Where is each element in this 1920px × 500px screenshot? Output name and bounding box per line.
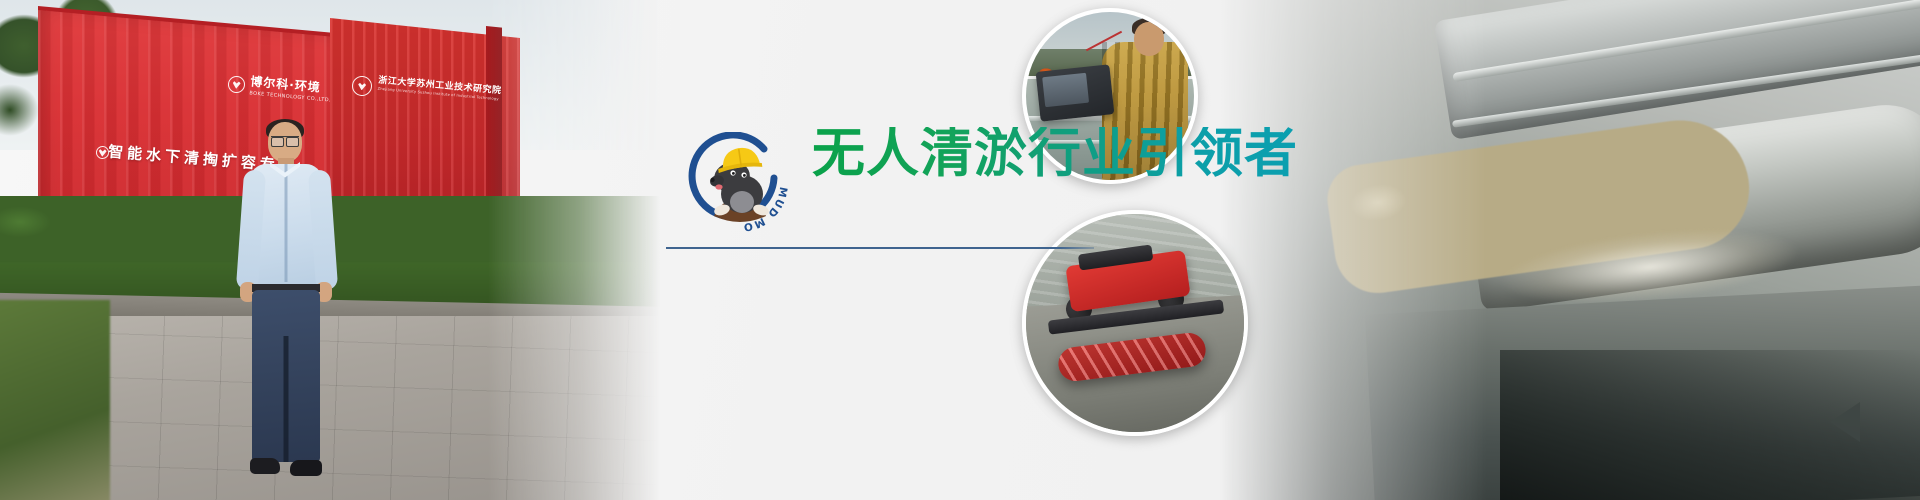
person-jeans — [252, 290, 320, 462]
glasses-icon — [271, 136, 299, 144]
person-left-shoe — [250, 458, 280, 474]
banner-headline: 无人清淤行业引领者 — [812, 127, 1298, 180]
mud-mole-logo-svg: MUD MOLE — [688, 132, 792, 236]
left-photo-man-in-front-of-red-container: 博尔科·环境 BOKE TECHNOLOGY CO.,LTD. 浙江大学苏州工业… — [0, 0, 660, 500]
person-standing — [228, 122, 348, 500]
logo-mole-pupil-right — [743, 174, 746, 177]
grass-verge — [0, 300, 110, 500]
person-right-shoe — [290, 460, 322, 476]
logo-mole-pupil-left — [732, 172, 735, 175]
logo-mole-nose — [710, 178, 714, 182]
hero-banner: 博尔科·环境 BOKE TECHNOLOGY CO.,LTD. 浙江大学苏州工业… — [0, 0, 1920, 500]
headline-divider — [666, 247, 1094, 249]
logo-mole-belly — [730, 191, 754, 213]
logo-mole-tongue — [715, 184, 722, 189]
right-photo-collage — [1220, 0, 1920, 500]
center-content: MUD MOLE 无人清淤行业引领者 — [640, 0, 1280, 500]
arrow-shape-icon — [1830, 402, 1860, 442]
mud-mole-logo: MUD MOLE — [688, 132, 792, 236]
